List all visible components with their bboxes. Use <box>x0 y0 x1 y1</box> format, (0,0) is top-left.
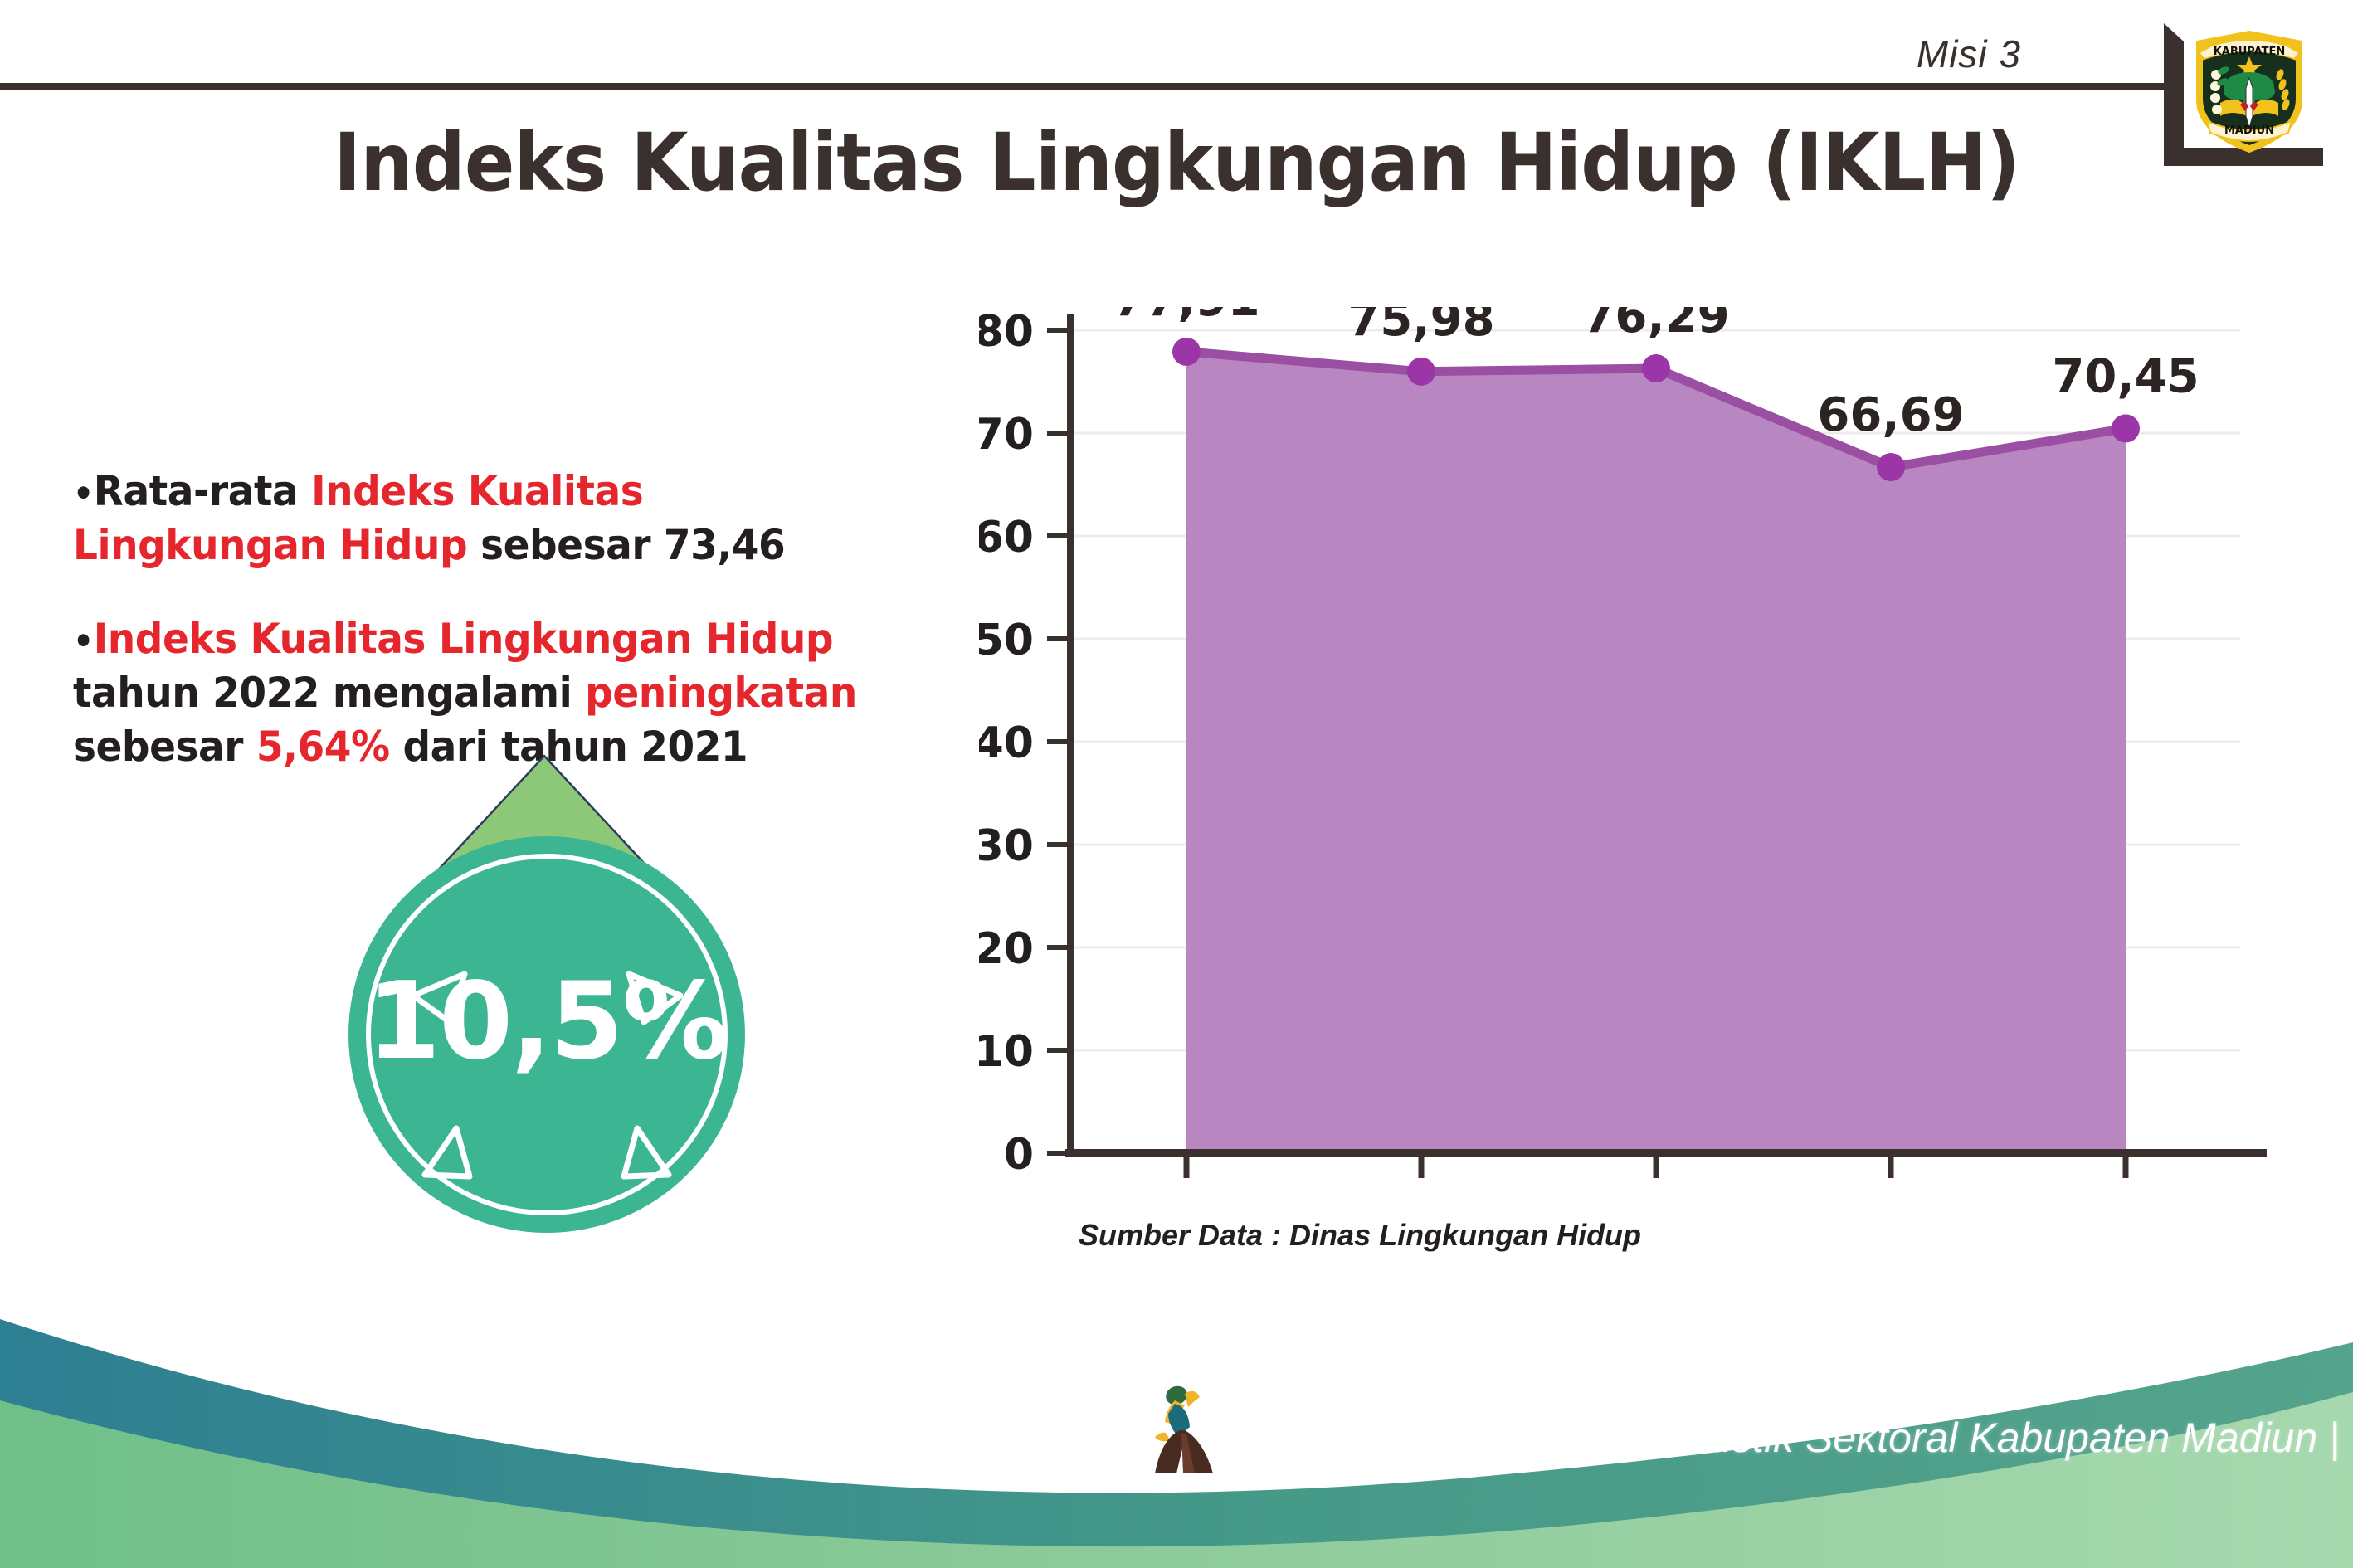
bullet-1-part-2: sebesar 73,46 <box>467 521 785 569</box>
chart-value-label-2018: 77,91 <box>1113 307 1259 327</box>
bullet-item-2: •Indeks Kualitas Lingkungan Hidup tahun … <box>73 612 908 774</box>
chart-value-label-2019: 75,98 <box>1347 307 1494 347</box>
chart-value-label-2021: 66,69 <box>1817 388 1964 442</box>
chart-value-label-2022: 70,45 <box>2052 349 2199 403</box>
bullet-item-1: •Rata-rata Indeks Kualitas Lingkungan Hi… <box>73 465 908 572</box>
page-footer: Media Infografis Data Statistik Sektoral… <box>0 1294 2353 1568</box>
bullet-1-part-0: Rata-rata <box>94 467 311 515</box>
y-tick-30: 30 <box>979 821 1034 871</box>
chart-marker-2022 <box>2112 414 2140 442</box>
y-tick-40: 40 <box>979 718 1034 768</box>
y-tick-0: 0 <box>1004 1130 1034 1180</box>
bullet-2-part-0: Indeks Kualitas Lingkungan Hidup <box>94 615 833 663</box>
chart-marker-2021 <box>1877 453 1905 481</box>
chart-marker-2019 <box>1407 358 1435 386</box>
increase-badge: 10,5% <box>330 751 762 1232</box>
chart-marker-2018 <box>1172 338 1201 366</box>
y-tick-50: 50 <box>979 616 1034 665</box>
bullet-dot: • <box>73 621 94 661</box>
y-tick-60: 60 <box>979 513 1034 562</box>
y-tick-10: 10 <box>979 1027 1034 1077</box>
misi-label: Misi 3 <box>1917 32 2021 76</box>
iklh-area-chart: 77,9175,9876,2966,6970,45 01020304050607… <box>979 307 2273 1186</box>
header-divider-line <box>0 83 2170 90</box>
badge-value-text: 10,5% <box>348 969 745 1075</box>
chart-source-caption: Sumber Data : Dinas Lingkungan Hidup <box>1079 1218 1641 1253</box>
bullet-2-part-2: peningkatan <box>585 669 857 717</box>
chart-y-tick-labels: 01020304050607080 <box>979 307 1034 1180</box>
chart-y-ticks <box>1047 330 1070 1153</box>
y-tick-70: 70 <box>979 410 1034 460</box>
bullet-dot: • <box>73 473 94 514</box>
media-infografis-logo-icon <box>1143 1379 1235 1478</box>
chart-svg: 77,9175,9876,2966,6970,45 01020304050607… <box>979 307 2273 1186</box>
y-tick-80: 80 <box>979 307 1034 357</box>
bullet-2-part-1: tahun 2022 mengalami <box>73 669 585 717</box>
footer-caption: Media Infografis Data Statistik Sektoral… <box>1243 1414 2340 1462</box>
chart-area-fill <box>1186 352 2126 1153</box>
chart-marker-2020 <box>1642 354 1670 382</box>
page-title: Indeks Kualitas Lingkungan Hidup (IKLH) <box>82 116 2270 209</box>
chart-value-label-2020: 76,29 <box>1582 307 1729 343</box>
emblem-top-ribbon-text: KABUPATEN <box>2214 46 2286 58</box>
bullet-2-part-3: sebesar <box>73 723 256 771</box>
y-tick-20: 20 <box>979 924 1034 974</box>
